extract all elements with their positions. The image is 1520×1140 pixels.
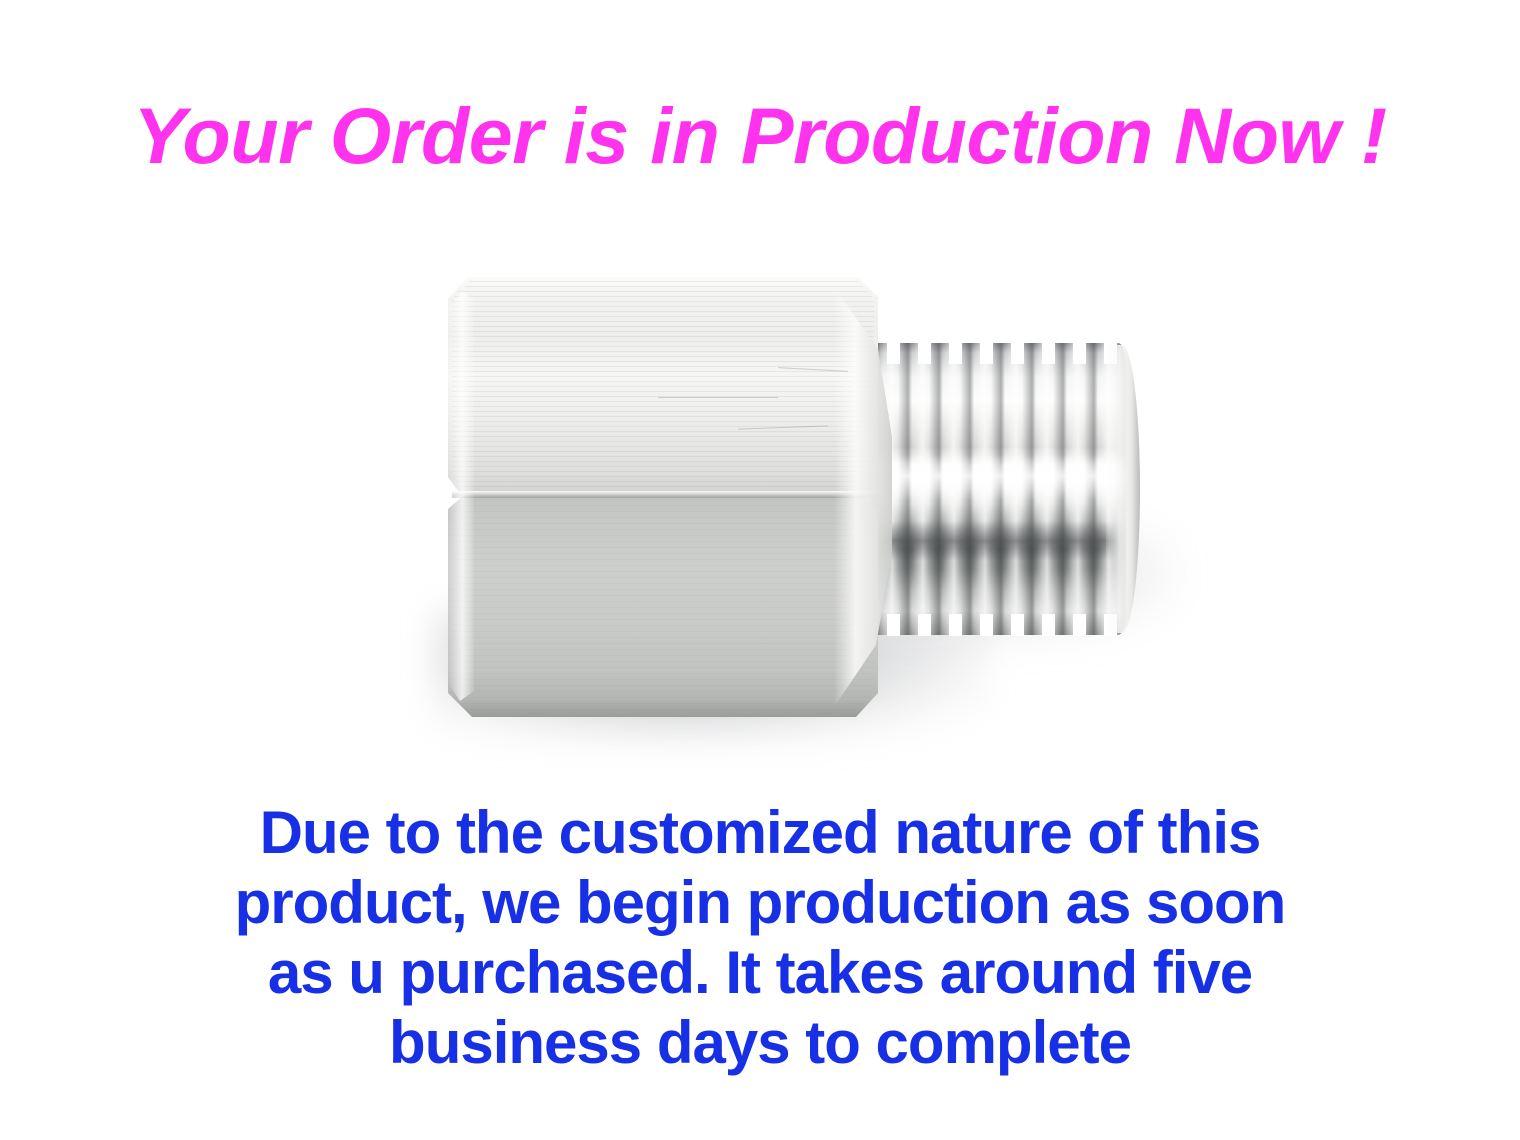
notice-line-4: business days to complete [0,1008,1520,1078]
production-notice: Due to the customized nature of this pro… [0,798,1520,1078]
brushed-finish-lines-bottom [452,499,874,713]
surface-scratch [658,397,778,398]
hex-left-bevel [448,291,474,701]
promo-banner: Your Order is in Production Now ! [0,0,1520,1140]
notice-line-3: as u purchased. It takes around five [0,938,1520,1008]
thread-end-cap [1106,345,1140,633]
page-title: Your Order is in Production Now ! [0,96,1520,175]
notice-line-2: product, we begin production as soon [0,868,1520,938]
hex-facet-edge [452,491,876,498]
product-photo [330,225,1210,795]
hex-right-shoulder [834,287,896,707]
notice-line-1: Due to the customized nature of this [0,798,1520,868]
hex-nut-body [448,277,898,717]
brushed-finish-lines-top [452,281,874,495]
